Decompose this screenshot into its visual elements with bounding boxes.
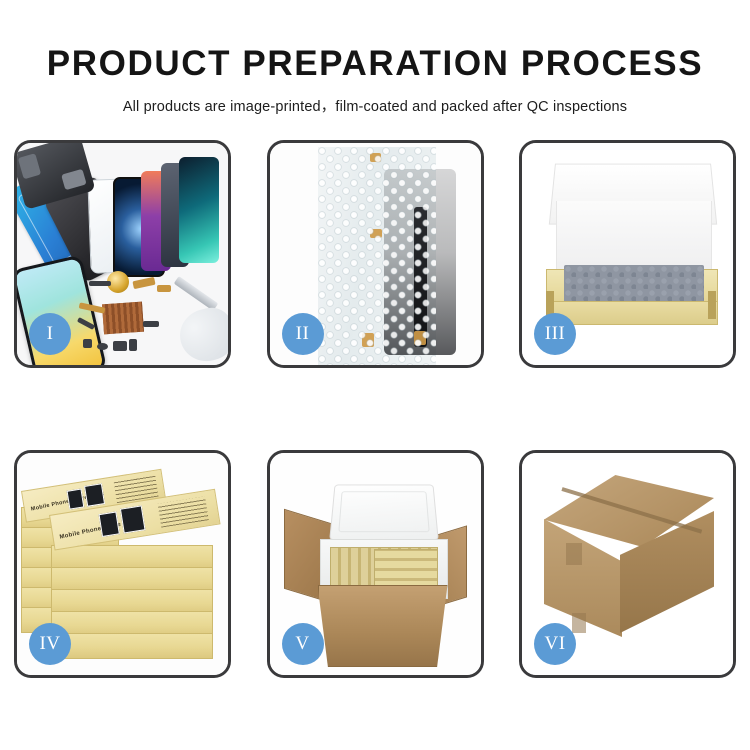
step-numeral-badge: II: [282, 313, 324, 355]
box-print-textlines: [158, 496, 209, 527]
carton-tape-icon: [566, 543, 582, 565]
page-title: PRODUCT PREPARATION PROCESS: [0, 0, 750, 84]
process-step-3[interactable]: III: [519, 140, 736, 368]
stacked-box: [51, 633, 213, 659]
flex-connector-icon: [157, 285, 171, 292]
box-print-thumbnail: [120, 505, 146, 533]
process-step-4[interactable]: Mobile Phone Spare Parts Mobile Phone Sp…: [14, 450, 231, 678]
step-numeral-badge: I: [29, 313, 71, 355]
small-part-icon: [97, 343, 108, 350]
process-step-6[interactable]: VI: [519, 450, 736, 678]
page-subtitle: All products are image-printed，film-coat…: [0, 84, 750, 116]
small-part-icon: [129, 339, 137, 351]
foam-lid-icon: [329, 485, 439, 541]
step-numeral-badge: IV: [29, 623, 71, 665]
box-print-thumbnail: [84, 483, 105, 507]
small-part-icon: [113, 341, 127, 351]
step-numeral-badge: III: [534, 313, 576, 355]
process-step-2[interactable]: II: [267, 140, 484, 368]
page-header: PRODUCT PREPARATION PROCESS All products…: [0, 0, 750, 116]
small-part-icon: [83, 339, 92, 348]
step-numeral-badge: VI: [534, 623, 576, 665]
process-step-1[interactable]: I: [14, 140, 231, 368]
teal-wallpaper-phone-icon: [179, 157, 219, 263]
box-side-tab-icon: [708, 291, 716, 319]
bubble-wrap-bag-icon: [318, 147, 436, 365]
step-numeral-badge: V: [282, 623, 324, 665]
process-step-grid: I II III: [14, 140, 736, 678]
small-part-icon: [143, 321, 159, 327]
carton-tape-icon: [572, 613, 586, 633]
process-step-5[interactable]: V: [267, 450, 484, 678]
foam-padding-icon: [564, 265, 704, 305]
carton-body-icon: [318, 585, 448, 667]
small-part-icon: [89, 281, 111, 286]
packed-units-icon: [374, 549, 438, 589]
box-print-thumbnail: [98, 511, 119, 537]
box-print-thumbnail: [67, 489, 85, 510]
chip-grid-part-icon: [102, 302, 144, 335]
